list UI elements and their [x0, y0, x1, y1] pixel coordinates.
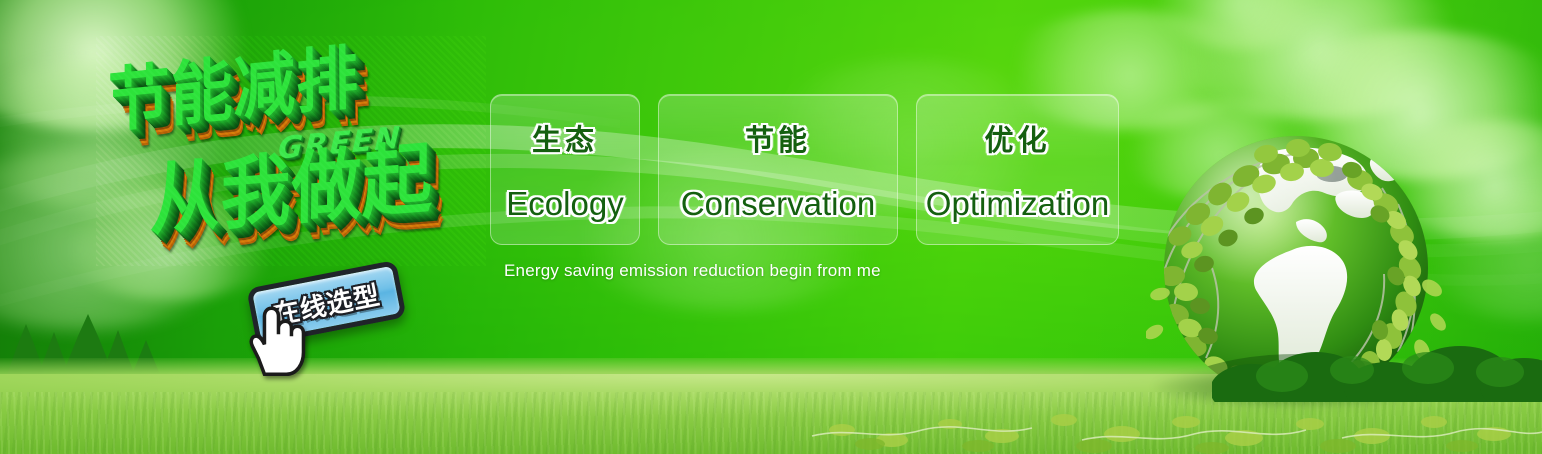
feature-card-conservation[interactable]: 节能 Conservation — [658, 94, 898, 245]
feature-card-en-label: Conservation — [681, 185, 875, 223]
feature-card-cn-label: 优化 — [984, 117, 1050, 159]
feature-card-ecology[interactable]: 生态 Ecology — [490, 94, 640, 245]
feature-card-en-label: Ecology — [506, 185, 623, 223]
headline-line-2: 从我做起 — [150, 115, 434, 251]
feature-card-optimization[interactable]: 优化 Optimization — [916, 94, 1119, 245]
feature-card-cn-label: 节能 — [745, 117, 811, 159]
pointer-hand-icon — [244, 302, 306, 376]
headline-3d-art: 节能减排 GREEN 从我做起 — [96, 36, 486, 266]
ivy-globe — [1146, 118, 1446, 418]
feature-card-row: 生态 Ecology 节能 Conservation 优化 Optimizati… — [490, 94, 1119, 245]
green-ivy-globe-icon — [1146, 118, 1446, 418]
eco-promo-banner: 节能减排 GREEN 从我做起 在线选型 生态 Ecology 节能 Conse… — [0, 0, 1542, 454]
feature-card-en-label: Optimization — [926, 185, 1109, 223]
banner-tagline: Energy saving emission reduction begin f… — [504, 261, 881, 281]
feature-card-cn-label: 生态 — [532, 117, 598, 159]
